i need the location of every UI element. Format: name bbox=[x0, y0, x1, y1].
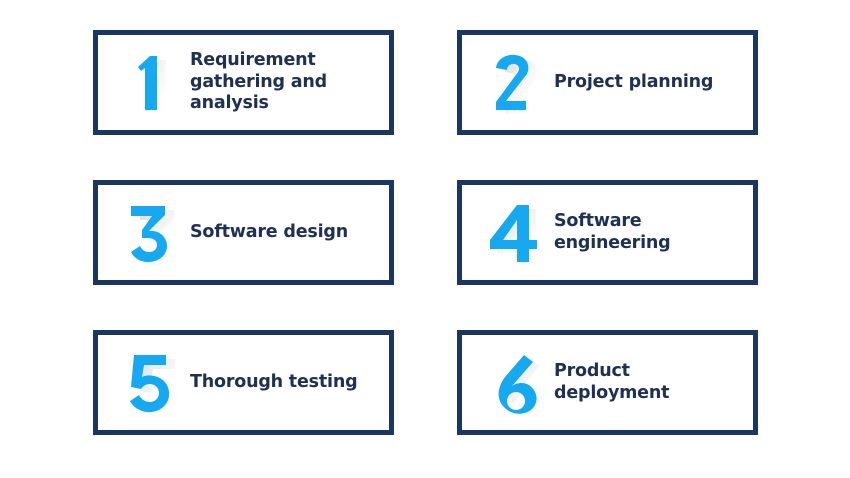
numeral-2-icon bbox=[476, 46, 550, 120]
step-card-1[interactable]: Requirement gathering and analysis bbox=[93, 30, 394, 135]
step-card-3[interactable]: Software design bbox=[93, 180, 394, 285]
step-label-6: Product deployment bbox=[550, 361, 745, 404]
numeral-4-icon bbox=[476, 196, 550, 270]
steps-grid: Requirement gathering and analysis Proje… bbox=[93, 30, 758, 435]
numeral-3-icon bbox=[112, 196, 186, 270]
step-card-4[interactable]: Software engineering bbox=[457, 180, 758, 285]
step-card-6[interactable]: Product deployment bbox=[457, 330, 758, 435]
step-label-1: Requirement gathering and analysis bbox=[186, 50, 381, 115]
step-card-2[interactable]: Project planning bbox=[457, 30, 758, 135]
sdlc-steps-board: Requirement gathering and analysis Proje… bbox=[0, 0, 850, 478]
numeral-6-icon bbox=[476, 346, 550, 420]
step-label-2: Project planning bbox=[550, 72, 745, 94]
numeral-5-icon bbox=[112, 346, 186, 420]
numeral-1-icon bbox=[112, 46, 186, 120]
step-card-5[interactable]: Thorough testing bbox=[93, 330, 394, 435]
step-label-5: Thorough testing bbox=[186, 372, 381, 394]
step-label-3: Software design bbox=[186, 222, 381, 244]
step-label-4: Software engineering bbox=[550, 211, 745, 254]
